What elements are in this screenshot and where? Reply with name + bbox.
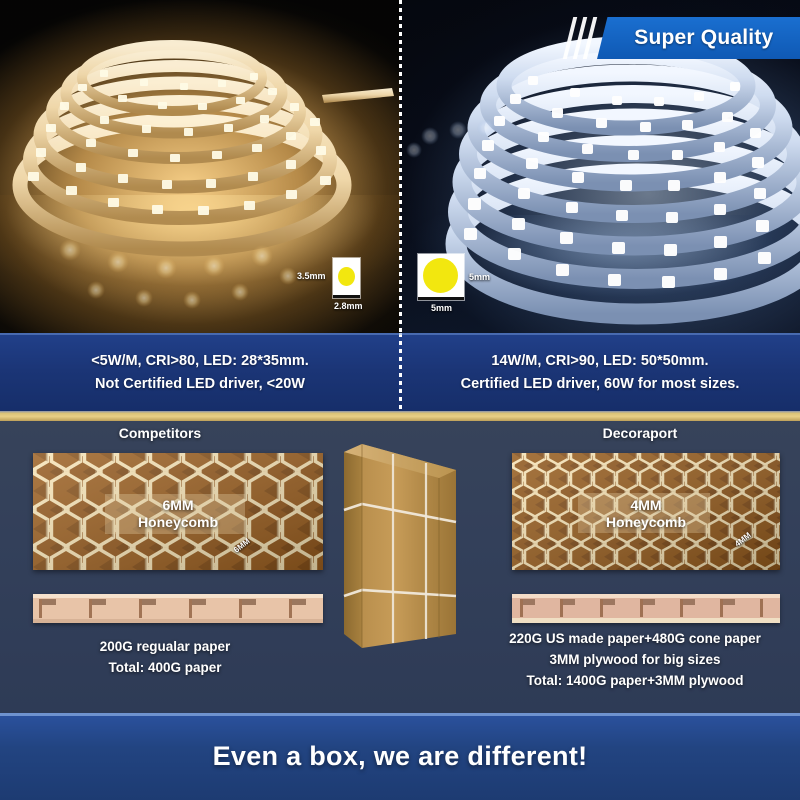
paper-edge-4mm xyxy=(512,594,780,623)
caption-competitors-line-2: Total: 400G paper xyxy=(108,660,221,675)
gold-divider xyxy=(0,411,800,421)
vertical-dotted-divider-spec xyxy=(399,333,402,411)
photo-row: 3.5mm 2.8mm xyxy=(0,0,800,333)
spec-column-competitor: <5W/M, CRI>80, LED: 28*35mm. Not Certifi… xyxy=(0,333,400,411)
honeycomb-panel-4mm: 4MM Honeycomb 4MM xyxy=(512,453,780,570)
paper-edge-6mm-profile xyxy=(33,594,323,623)
led-chip-large xyxy=(418,254,464,300)
caption-competitors: 200G regualar paper Total: 400G paper xyxy=(0,637,330,679)
spec-band: <5W/M, CRI>80, LED: 28*35mm. Not Certifi… xyxy=(0,333,800,411)
section-title-decoraport: Decoraport xyxy=(480,425,800,441)
chip-height-label: 5mm xyxy=(469,272,490,282)
super-quality-ribbon: Super Quality xyxy=(597,17,800,59)
ribbon-label: Super Quality xyxy=(634,26,773,50)
honeycomb-4mm-size: 4MM xyxy=(630,497,661,513)
honeycomb-panel-6mm: 6MM Honeycomb 6MM xyxy=(33,453,323,570)
honeycomb-4mm-word: Honeycomb xyxy=(606,514,686,530)
led-chip-small xyxy=(333,258,360,298)
section-title-competitors: Competitors xyxy=(0,425,320,441)
caption-decoraport: 220G US made paper+480G cone paper 3MM p… xyxy=(470,629,800,692)
chip-width-label: 2.8mm xyxy=(334,301,363,311)
led-chip-callout-large: 5mm 5mm xyxy=(418,254,464,300)
spec-right-line-1: 14W/M, CRI>90, LED: 50*50mm. xyxy=(491,353,708,369)
carton-svg xyxy=(340,438,470,670)
caption-decoraport-line-3: Total: 1400G paper+3MM plywood xyxy=(527,673,744,688)
spec-right-line-2: Certified LED driver, 60W for most sizes… xyxy=(461,376,740,392)
led-emitter-dot xyxy=(423,258,458,293)
vertical-dotted-divider-top xyxy=(399,0,402,333)
led-chip-callout-small: 3.5mm 2.8mm xyxy=(333,258,360,298)
spec-left-line-2: Not Certified LED driver, <20W xyxy=(95,376,305,392)
spec-column-decoraport: 14W/M, CRI>90, LED: 50*50mm. Certified L… xyxy=(400,333,800,411)
honeycomb-6mm-word: Honeycomb xyxy=(138,514,218,530)
honeycomb-6mm-size: 6MM xyxy=(162,497,193,513)
cool-led-strip-photo: Super Quality 5mm 5mm xyxy=(400,0,800,333)
spec-left-line-1: <5W/M, CRI>80, LED: 28*35mm. xyxy=(91,353,309,369)
led-chip-base xyxy=(333,295,360,298)
cardboard-carton-illustration xyxy=(340,438,470,670)
product-comparison-infographic: 3.5mm 2.8mm xyxy=(0,0,800,800)
caption-decoraport-line-1: 220G US made paper+480G cone paper xyxy=(509,631,761,646)
warm-led-strip-photo: 3.5mm 2.8mm xyxy=(0,0,400,333)
footer-banner: Even a box, we are different! xyxy=(0,713,800,800)
paper-edge-6mm xyxy=(33,594,323,623)
chip-height-label: 3.5mm xyxy=(297,271,326,281)
caption-competitors-line-1: 200G regualar paper xyxy=(100,639,231,654)
caption-decoraport-line-2: 3MM plywood for big sizes xyxy=(549,652,720,667)
honeycomb-6mm-label: 6MM Honeycomb xyxy=(33,497,323,531)
paper-edge-4mm-profile xyxy=(512,594,780,623)
footer-headline: Even a box, we are different! xyxy=(213,741,588,772)
honeycomb-4mm-label: 4MM Honeycomb xyxy=(512,497,780,531)
chip-width-label: 5mm xyxy=(431,303,452,313)
led-emitter-dot xyxy=(338,267,355,286)
led-chip-base xyxy=(418,297,464,300)
